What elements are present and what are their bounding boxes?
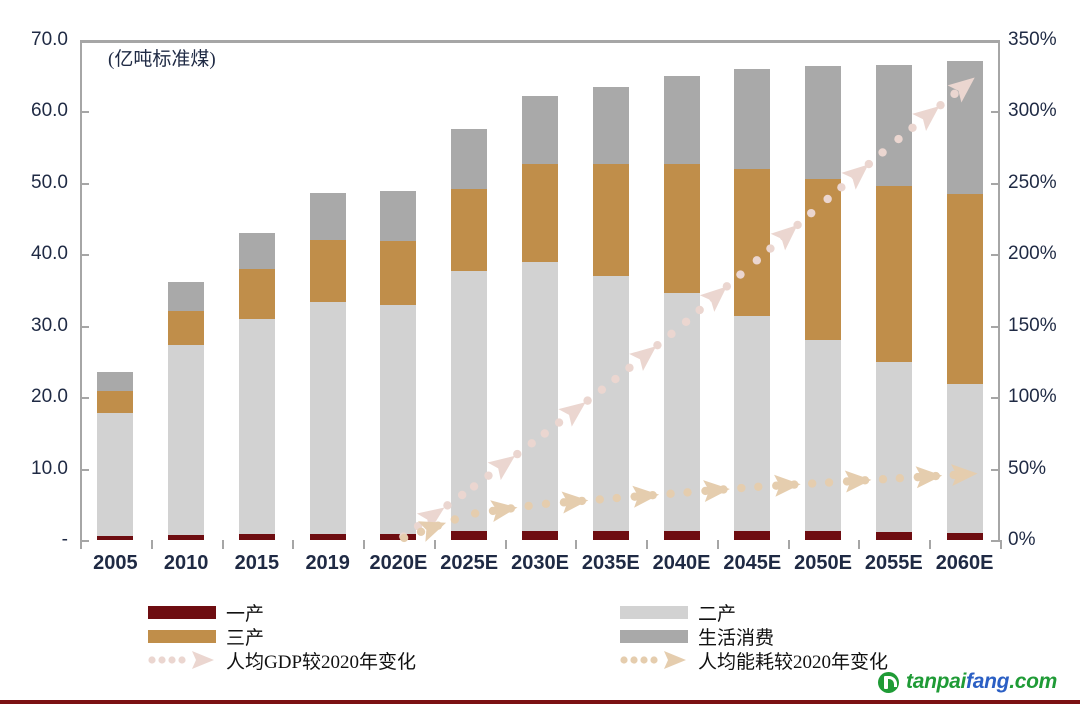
line-series bbox=[399, 69, 981, 541]
legend-label: 三产 bbox=[226, 623, 264, 650]
line-dot bbox=[753, 256, 761, 264]
y-axis-right-tick-label: 350% bbox=[1008, 29, 1057, 51]
x-axis-label: 2015 bbox=[235, 552, 280, 575]
legend-item[interactable]: 人均GDP较2020年变化 bbox=[148, 648, 618, 672]
x-axis-label: 2005 bbox=[93, 552, 138, 575]
line-dot bbox=[737, 484, 745, 492]
line-dot bbox=[625, 364, 633, 372]
y-axis-left-tick-label: - bbox=[4, 529, 68, 551]
legend-dotted-arrow-icon bbox=[620, 651, 688, 669]
legend-swatch bbox=[148, 630, 216, 643]
x-axis-label: 2045E bbox=[723, 552, 781, 575]
plot-inner: -10.020.030.040.050.060.070.0 0%50%100%1… bbox=[80, 40, 1000, 540]
line-dot bbox=[596, 495, 604, 503]
x-axis-tick bbox=[788, 540, 790, 549]
x-axis-label: 2035E bbox=[582, 552, 640, 575]
x-axis-tick bbox=[151, 540, 153, 549]
legend-item[interactable]: 二产 bbox=[620, 600, 1080, 624]
line-dot bbox=[736, 270, 744, 278]
x-axis-label: 2050E bbox=[794, 552, 852, 575]
legend-column-left: 一产三产人均GDP较2020年变化 bbox=[148, 600, 618, 672]
x-axis-label: 2040E bbox=[653, 552, 711, 575]
line-dot bbox=[458, 491, 466, 499]
line-dot bbox=[451, 515, 459, 523]
line-dot bbox=[613, 494, 621, 502]
chart-page: (亿吨标准煤) -10.020.030.040.050.060.070.0 0%… bbox=[0, 0, 1080, 707]
line-dot bbox=[879, 475, 887, 483]
legend-item[interactable]: 三产 bbox=[148, 624, 618, 648]
x-axis-tick bbox=[1000, 540, 1002, 549]
chart-legend: 一产三产人均GDP较2020年变化 二产生活消费人均能耗较2020年变化 bbox=[0, 600, 1080, 672]
y-axis-right-tick-label: 150% bbox=[1008, 315, 1057, 337]
x-axis-label: 2019 bbox=[305, 552, 350, 575]
legend-label: 人均GDP较2020年变化 bbox=[226, 647, 416, 674]
y-axis-right-tick-label: 300% bbox=[1008, 100, 1057, 122]
watermark: tanpaifang.com bbox=[878, 670, 1057, 694]
x-axis-tick bbox=[575, 540, 577, 549]
y-axis-right-tick bbox=[991, 540, 1000, 542]
legend-swatch bbox=[620, 606, 688, 619]
legend-label: 人均能耗较2020年变化 bbox=[698, 647, 888, 674]
x-axis-label: 2010 bbox=[164, 552, 209, 575]
legend-item[interactable]: 一产 bbox=[148, 600, 618, 624]
y-axis-left-tick-label: 30.0 bbox=[4, 315, 68, 337]
y-axis-left-tick-label: 40.0 bbox=[4, 243, 68, 265]
line-dot bbox=[542, 500, 550, 508]
line-dot bbox=[878, 148, 886, 156]
line-dot bbox=[807, 209, 815, 217]
watermark-text-c: .com bbox=[1009, 670, 1057, 693]
line-dot bbox=[513, 450, 521, 458]
legend-label: 二产 bbox=[698, 599, 736, 626]
x-axis-tick bbox=[292, 540, 294, 549]
watermark-text-a: tanpai bbox=[906, 670, 966, 693]
line-dot bbox=[555, 418, 563, 426]
line-dot bbox=[682, 318, 690, 326]
line-dot bbox=[823, 195, 831, 203]
line-dot bbox=[825, 478, 833, 486]
x-axis-label: 2025E bbox=[440, 552, 498, 575]
line-dot bbox=[470, 482, 478, 490]
x-axis-label: 2060E bbox=[936, 552, 994, 575]
x-axis-tick bbox=[646, 540, 648, 549]
line-dot bbox=[837, 183, 845, 191]
line-dot bbox=[471, 509, 479, 517]
x-axis-tick bbox=[505, 540, 507, 549]
x-axis-tick bbox=[717, 540, 719, 549]
legend-label: 一产 bbox=[226, 599, 264, 626]
x-axis-tick bbox=[363, 540, 365, 549]
legend-swatch bbox=[620, 630, 688, 643]
line-dot bbox=[666, 490, 674, 498]
y-axis-right-tick-label: 200% bbox=[1008, 243, 1057, 265]
x-axis-tick bbox=[929, 540, 931, 549]
line-dot bbox=[766, 244, 774, 252]
line-dot bbox=[528, 439, 536, 447]
line-dot bbox=[524, 502, 532, 510]
y-axis-right-tick-label: 100% bbox=[1008, 386, 1057, 408]
y-axis-left-tick-label: 20.0 bbox=[4, 386, 68, 408]
line-dot bbox=[541, 429, 549, 437]
y-axis-left-tick-label: 60.0 bbox=[4, 100, 68, 122]
line-dot bbox=[683, 488, 691, 496]
line-dot bbox=[667, 330, 675, 338]
line-dot bbox=[443, 501, 451, 509]
footer-rule bbox=[0, 700, 1080, 704]
line-dot bbox=[611, 375, 619, 383]
legend-item[interactable]: 人均能耗较2020年变化 bbox=[620, 648, 1080, 672]
legend-column-right: 二产生活消费人均能耗较2020年变化 bbox=[620, 600, 1080, 672]
line-dot bbox=[400, 534, 408, 542]
y-axis-left-tick-label: 50.0 bbox=[4, 172, 68, 194]
line-dot bbox=[754, 483, 762, 491]
x-axis-tick bbox=[222, 540, 224, 549]
line-series-container bbox=[80, 40, 1000, 540]
line-dot bbox=[808, 479, 816, 487]
line-dot bbox=[894, 135, 902, 143]
x-axis-label: 2030E bbox=[511, 552, 569, 575]
x-axis-tick bbox=[80, 540, 82, 549]
line-dot bbox=[908, 124, 916, 132]
legend-item[interactable]: 生活消费 bbox=[620, 624, 1080, 648]
watermark-text-b: fang bbox=[966, 670, 1009, 693]
x-axis-label: 2055E bbox=[865, 552, 923, 575]
x-axis-tick bbox=[858, 540, 860, 549]
plot-area: (亿吨标准煤) -10.020.030.040.050.060.070.0 0%… bbox=[80, 40, 1000, 540]
y-axis-left-tick-label: 10.0 bbox=[4, 458, 68, 480]
x-axis-label: 2020E bbox=[370, 552, 428, 575]
legend-dotted-arrow-icon bbox=[148, 651, 216, 669]
line-dot bbox=[417, 528, 425, 536]
y-axis-left-tick-label: 70.0 bbox=[4, 29, 68, 51]
legend-label: 生活消费 bbox=[698, 623, 774, 650]
line-dot bbox=[484, 471, 492, 479]
line-dot bbox=[896, 474, 904, 482]
line-dot bbox=[598, 385, 606, 393]
y-axis-right-tick-label: 250% bbox=[1008, 172, 1057, 194]
y-axis-right-tick-label: 0% bbox=[1008, 529, 1035, 551]
line-dot bbox=[695, 306, 703, 314]
y-axis-right-tick-label: 50% bbox=[1008, 458, 1046, 480]
line-dot bbox=[950, 90, 958, 98]
x-axis-labels: 20052010201520192020E2025E2030E2035E2040… bbox=[80, 552, 1000, 582]
leaf-circle-logo-icon bbox=[878, 672, 899, 693]
x-axis-tick bbox=[434, 540, 436, 549]
legend-swatch bbox=[148, 606, 216, 619]
